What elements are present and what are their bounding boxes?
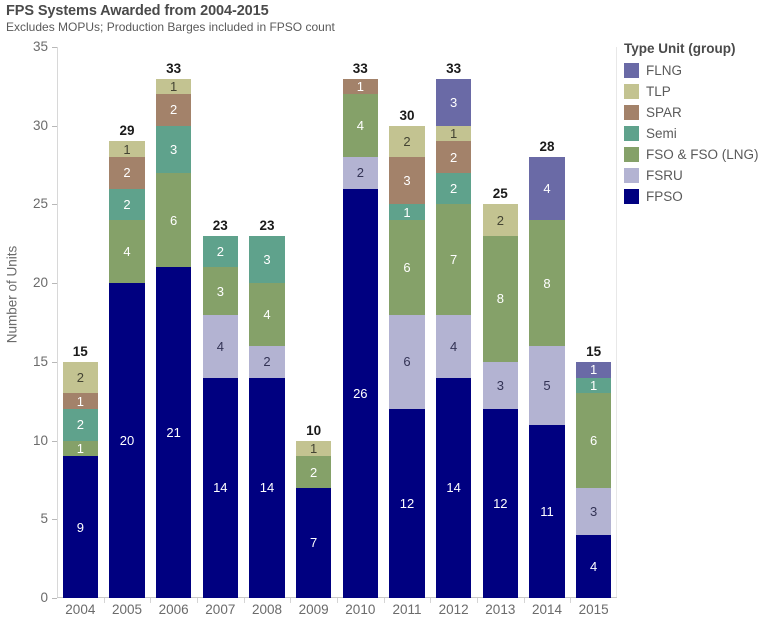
legend-item-label: Semi: [646, 126, 677, 141]
bar-segment[interactable]: 1: [343, 79, 378, 95]
bar-segment-value: 2: [357, 166, 364, 179]
legend: Type Unit (group) FLNGTLPSPARSemiFSO & F…: [624, 41, 783, 207]
bar-segment-value: 1: [590, 363, 597, 376]
bar-segment[interactable]: 2: [109, 157, 144, 188]
x-axis-tick-mark: [570, 598, 571, 603]
legend-item-label: SPAR: [646, 105, 682, 120]
legend-item[interactable]: FLNG: [624, 60, 783, 81]
bar-segment[interactable]: 6: [156, 173, 191, 267]
bar-segment-value: 12: [493, 497, 507, 510]
y-axis-title: Number of Units: [5, 195, 20, 395]
bar-segment[interactable]: 2: [296, 456, 331, 487]
legend-item-label: TLP: [646, 84, 671, 99]
bar-segment-value: 20: [120, 434, 134, 447]
bar-segment[interactable]: 3: [156, 126, 191, 173]
bar-segment-value: 1: [450, 127, 457, 140]
bar-segment[interactable]: 8: [529, 220, 564, 346]
bar-segment-value: 14: [446, 481, 460, 494]
bar-total-label: 15: [576, 344, 611, 359]
bar-segment-value: 12: [400, 497, 414, 510]
bar-segment-value: 2: [403, 135, 410, 148]
bar-group[interactable]: 1422633: [343, 47, 378, 598]
bar-group[interactable]: 12242029: [109, 47, 144, 598]
x-axis-tick-label: 2006: [150, 602, 197, 617]
bar-stack: 2316612: [389, 126, 424, 598]
bar-segment[interactable]: 4: [109, 220, 144, 283]
bar-segment-value: 4: [263, 308, 270, 321]
bar-group[interactable]: 2831225: [483, 47, 518, 598]
x-axis-tick-mark: [104, 598, 105, 603]
bar-segment[interactable]: 20: [109, 283, 144, 598]
bar-stack: 122420: [109, 141, 144, 598]
bar-segment-value: 6: [170, 214, 177, 227]
y-axis-tick-label: 10: [33, 432, 48, 450]
bar-total-label: 15: [63, 344, 98, 359]
bar-stack: 11634: [576, 362, 611, 598]
y-axis-tick-label: 35: [33, 38, 48, 56]
x-axis-tick-label: 2014: [524, 602, 571, 617]
bar-segment[interactable]: 3: [436, 79, 471, 126]
bar-segment[interactable]: 2: [203, 236, 238, 267]
bar-segment[interactable]: 1: [109, 141, 144, 157]
legend-item[interactable]: FPSO: [624, 186, 783, 207]
legend-item-label: FLNG: [646, 63, 682, 78]
legend-swatch-icon: [624, 63, 639, 78]
bar-segment-value: 3: [263, 253, 270, 266]
bar-segment[interactable]: 1: [156, 79, 191, 95]
bar-segment-value: 4: [357, 119, 364, 132]
bar-segment-value: 14: [213, 481, 227, 494]
x-axis-tick-mark: [337, 598, 338, 603]
y-axis-tick-label: 15: [33, 353, 48, 371]
bar-stack: 21219: [63, 362, 98, 598]
y-axis-tick-label: 25: [33, 195, 48, 213]
bar-segment[interactable]: 2: [249, 346, 284, 377]
bar-segment[interactable]: 2: [483, 204, 518, 235]
bar-segment-value: 4: [543, 182, 550, 195]
bar-segment[interactable]: 9: [63, 456, 98, 598]
x-axis-tick-label: 2005: [104, 602, 151, 617]
bar-stack: 28312: [483, 204, 518, 598]
bar-segment-value: 6: [403, 355, 410, 368]
bar-segment[interactable]: 4: [203, 315, 238, 378]
bar-segment-value: 4: [450, 340, 457, 353]
bar-segment-value: 1: [403, 206, 410, 219]
bar-segment[interactable]: 1: [63, 441, 98, 457]
bar-group[interactable]: 3122741433: [436, 47, 471, 598]
bar-total-label: 28: [529, 139, 564, 154]
legend-item[interactable]: FSRU: [624, 165, 783, 186]
bar-segment[interactable]: 8: [483, 236, 518, 362]
bar-segment-value: 3: [170, 143, 177, 156]
bar-segment-value: 9: [77, 521, 84, 534]
bar-segment[interactable]: 1: [63, 393, 98, 409]
bar-total-label: 25: [483, 186, 518, 201]
bar-segment[interactable]: 2: [63, 362, 98, 393]
bar-segment-value: 2: [450, 182, 457, 195]
y-axis: Number of Units 05101520253035: [0, 47, 57, 598]
x-axis-tick-label: 2009: [290, 602, 337, 617]
bar-total-label: 30: [389, 108, 424, 123]
bar-segment-value: 2: [497, 214, 504, 227]
bar-segment[interactable]: 2: [156, 94, 191, 125]
title-block: FPS Systems Awarded from 2004-2015 Exclu…: [6, 2, 706, 35]
bar-segment[interactable]: 11: [529, 425, 564, 598]
bar-segment-value: 6: [590, 434, 597, 447]
bar-segment-value: 4: [217, 340, 224, 353]
bar-stack: 23414: [203, 236, 238, 598]
bar-segment-value: 4: [123, 245, 130, 258]
bar-segment[interactable]: 1: [436, 126, 471, 142]
bar-total-label: 23: [203, 218, 238, 233]
y-axis-tick-label: 5: [40, 510, 48, 528]
legend-item[interactable]: Semi: [624, 123, 783, 144]
legend-item-label: FSRU: [646, 168, 683, 183]
bar-segment-value: 1: [310, 442, 317, 455]
bar-segment[interactable]: 21: [156, 267, 191, 598]
bar-segment[interactable]: 4: [343, 94, 378, 157]
legend-swatch-icon: [624, 168, 639, 183]
bar-segment-value: 3: [497, 379, 504, 392]
bar-segment-value: 2: [310, 466, 317, 479]
bar-segment[interactable]: 4: [249, 283, 284, 346]
x-axis-tick-label: 2011: [384, 602, 431, 617]
x-axis-tick-label: 2015: [570, 602, 617, 617]
bar-total-label: 29: [109, 123, 144, 138]
bar-segment-value: 14: [260, 481, 274, 494]
x-axis-tick-mark: [150, 598, 151, 603]
bar-segment-value: 11: [540, 505, 554, 518]
x-axis-tick-mark: [290, 598, 291, 603]
bar-segment-value: 2: [123, 198, 130, 211]
legend-swatch-icon: [624, 147, 639, 162]
legend-swatch-icon: [624, 126, 639, 141]
bar-stack: 34214: [249, 236, 284, 598]
bar-segment[interactable]: 2: [63, 409, 98, 440]
bar-segment[interactable]: 5: [529, 346, 564, 425]
bar-group[interactable]: 4851128: [529, 47, 564, 598]
x-axis-tick-label: 2008: [244, 602, 291, 617]
bar-segment[interactable]: 26: [343, 189, 378, 598]
bar-segment-value: 1: [77, 395, 84, 408]
bar-group[interactable]: 12362133: [156, 47, 191, 598]
legend-swatch-icon: [624, 189, 639, 204]
legend-swatch-icon: [624, 84, 639, 99]
bar-segment[interactable]: 3: [576, 488, 611, 535]
bar-segment-value: 1: [357, 80, 364, 93]
x-axis-tick-label: 2004: [57, 602, 104, 617]
bar-segment-value: 8: [497, 292, 504, 305]
bar-segment[interactable]: 6: [389, 220, 424, 314]
bar-segment[interactable]: 2: [389, 126, 424, 157]
legend-items: FLNGTLPSPARSemiFSO & FSO (LNG)FSRUFPSO: [624, 60, 783, 207]
legend-item[interactable]: FSO & FSO (LNG): [624, 144, 783, 165]
bar-segment-value: 4: [590, 560, 597, 573]
bar-segment-value: 1: [123, 143, 130, 156]
bar-segment[interactable]: 12: [483, 409, 518, 598]
bar-segment[interactable]: 3: [483, 362, 518, 409]
bar-segment[interactable]: 2: [109, 189, 144, 220]
bar-segment-value: 7: [310, 536, 317, 549]
bar-segment-value: 2: [450, 151, 457, 164]
legend-item-label: FPSO: [646, 189, 683, 204]
bar-segment[interactable]: 1: [576, 362, 611, 378]
bar-segment-value: 8: [543, 277, 550, 290]
chart-subtitle: Excludes MOPUs; Production Barges includ…: [6, 20, 706, 35]
bar-segment-value: 21: [166, 426, 180, 439]
x-axis-tick-mark: [477, 598, 478, 603]
legend-swatch-icon: [624, 105, 639, 120]
bar-group[interactable]: 2341423: [203, 47, 238, 598]
bar-segment[interactable]: 3: [249, 236, 284, 283]
bar-segment[interactable]: 6: [389, 315, 424, 409]
bar-segment[interactable]: 2: [343, 157, 378, 188]
x-axis-tick-mark: [384, 598, 385, 603]
bar-segment[interactable]: 4: [576, 535, 611, 598]
bar-total-label: 33: [156, 61, 191, 76]
bar-segment[interactable]: 7: [436, 204, 471, 314]
y-axis-tick-label: 30: [33, 117, 48, 135]
x-axis: 2004200520062007200820092010201120122013…: [57, 598, 617, 626]
bar-segment[interactable]: 14: [249, 378, 284, 598]
legend-title: Type Unit (group): [624, 41, 783, 56]
bar-segment-value: 3: [590, 505, 597, 518]
bar-segment[interactable]: 1: [576, 378, 611, 394]
bar-total-label: 33: [343, 61, 378, 76]
bar-total-label: 33: [436, 61, 471, 76]
bar-segment-value: 2: [123, 166, 130, 179]
bar-segment[interactable]: 4: [529, 157, 564, 220]
bar-segment-value: 3: [403, 174, 410, 187]
bar-segment[interactable]: 3: [203, 267, 238, 314]
x-axis-tick-mark: [197, 598, 198, 603]
bar-group[interactable]: 1163415: [576, 47, 611, 598]
bar-segment-value: 6: [403, 261, 410, 274]
x-axis-tick-mark: [430, 598, 431, 603]
chart-root: FPS Systems Awarded from 2004-2015 Exclu…: [0, 0, 783, 626]
bar-segment[interactable]: 3: [389, 157, 424, 204]
bar-group[interactable]: 231661230: [389, 47, 424, 598]
bar-segment-value: 3: [217, 285, 224, 298]
bar-segment[interactable]: 4: [436, 315, 471, 378]
bar-group[interactable]: 2121915: [63, 47, 98, 598]
bar-segment-value: 5: [543, 379, 550, 392]
x-axis-tick-label: 2007: [197, 602, 244, 617]
x-axis-tick-mark: [524, 598, 525, 603]
y-axis-tick-label: 20: [33, 274, 48, 292]
bar-stack: 48511: [529, 157, 564, 598]
page-title: FPS Systems Awarded from 2004-2015: [6, 2, 706, 20]
bar-segment[interactable]: 14: [203, 378, 238, 598]
bar-segment[interactable]: 1: [389, 204, 424, 220]
bar-segment-value: 1: [170, 80, 177, 93]
bar-segment[interactable]: 7: [296, 488, 331, 598]
y-axis-tick-label: 0: [40, 589, 48, 607]
bars-layer: 2121915122420291236213323414233421423127…: [57, 47, 617, 598]
bar-stack: 123621: [156, 79, 191, 598]
bar-segment-value: 26: [353, 387, 367, 400]
legend-item[interactable]: SPAR: [624, 102, 783, 123]
bar-segment[interactable]: 12: [389, 409, 424, 598]
bar-segment[interactable]: 2: [436, 173, 471, 204]
bar-total-label: 23: [249, 218, 284, 233]
bar-group[interactable]: 12710: [296, 47, 331, 598]
bar-segment-value: 2: [170, 103, 177, 116]
bar-segment[interactable]: 14: [436, 378, 471, 598]
legend-item[interactable]: TLP: [624, 81, 783, 102]
bar-segment-value: 2: [217, 245, 224, 258]
x-axis-tick-mark: [244, 598, 245, 603]
bar-stack: 127: [296, 441, 331, 598]
bar-segment-value: 2: [263, 355, 270, 368]
bar-segment-value: 1: [77, 442, 84, 455]
bar-total-label: 10: [296, 423, 331, 438]
bar-segment[interactable]: 2: [436, 141, 471, 172]
bar-stack: 31227414: [436, 79, 471, 598]
x-axis-tick-label: 2010: [337, 602, 384, 617]
bar-segment[interactable]: 6: [576, 393, 611, 487]
x-axis-tick-label: 2013: [477, 602, 524, 617]
bar-stack: 14226: [343, 79, 378, 599]
bar-segment-value: 1: [590, 379, 597, 392]
bar-segment-value: 3: [450, 96, 457, 109]
bar-segment[interactable]: 1: [296, 441, 331, 457]
bar-group[interactable]: 3421423: [249, 47, 284, 598]
bar-segment-value: 2: [77, 418, 84, 431]
x-axis-tick-label: 2012: [430, 602, 477, 617]
legend-item-label: FSO & FSO (LNG): [646, 147, 759, 162]
bar-segment-value: 7: [450, 253, 457, 266]
bar-segment-value: 2: [77, 371, 84, 384]
